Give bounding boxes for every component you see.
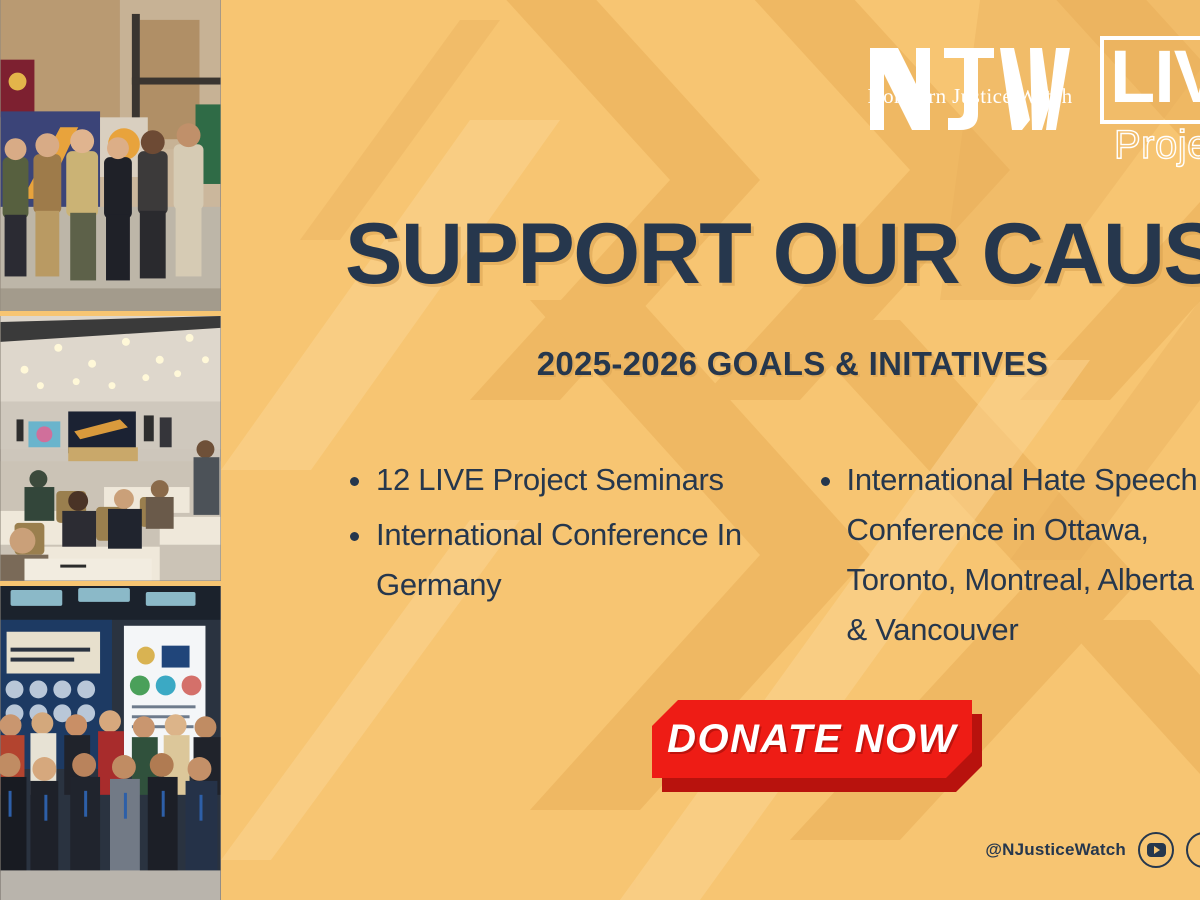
donate-cta: DONATE NOW: [652, 700, 982, 792]
list-item-line: Toronto, Montreal, Alberta: [847, 555, 1200, 605]
youtube-icon[interactable]: [1138, 832, 1174, 868]
live-project-logo: LIVE Project: [1100, 36, 1200, 161]
play-triangle-icon: [1154, 846, 1160, 854]
donate-now-button[interactable]: DONATE NOW: [652, 700, 972, 778]
youtube-badge-shape: [1147, 843, 1166, 857]
goals-section: 12 LIVE Project Seminars International C…: [340, 455, 1200, 660]
njw-logo: Northern Justice Watch: [860, 34, 1080, 144]
footer-social-bar: @NJusticeWatch: [985, 832, 1200, 868]
goals-list-right: International Hate Speech Conference in …: [811, 455, 1200, 655]
list-item: 12 LIVE Project Seminars: [340, 455, 765, 505]
list-item-line: International Hate Speech: [847, 455, 1200, 505]
brand-logo-row: Northern Justice Watch LIVE Project: [860, 34, 1200, 162]
social-icon-partial[interactable]: [1186, 832, 1200, 868]
social-handle: @NJusticeWatch: [985, 840, 1126, 860]
poster-canvas: Northern Justice Watch LIVE Project SUPP…: [0, 0, 1200, 900]
goals-list-left: 12 LIVE Project Seminars International C…: [340, 455, 765, 610]
njw-wordmark: Northern Justice Watch: [860, 84, 1080, 109]
live-logo-subword: Project: [1114, 124, 1200, 166]
goals-column-right: International Hate Speech Conference in …: [811, 455, 1200, 660]
goals-column-left: 12 LIVE Project Seminars International C…: [340, 455, 765, 660]
page-title: SUPPORT OUR CAUSE: [345, 207, 1200, 301]
photo-strip: [0, 0, 221, 900]
list-item-line: Conference in Ottawa,: [847, 505, 1200, 555]
list-item-line: & Vancouver: [847, 605, 1200, 655]
photo-group-genocide-conference: [0, 586, 221, 900]
list-item: International Conference In Germany: [340, 510, 765, 610]
list-item: International Hate Speech Conference in …: [811, 455, 1200, 655]
photo-group-njw-banner: [0, 0, 221, 311]
page-subtitle: 2025-2026 GOALS & INITATIVES: [345, 343, 1200, 385]
photo-conference-hall: [0, 316, 221, 581]
live-logo-word: LIVE: [1110, 40, 1200, 114]
